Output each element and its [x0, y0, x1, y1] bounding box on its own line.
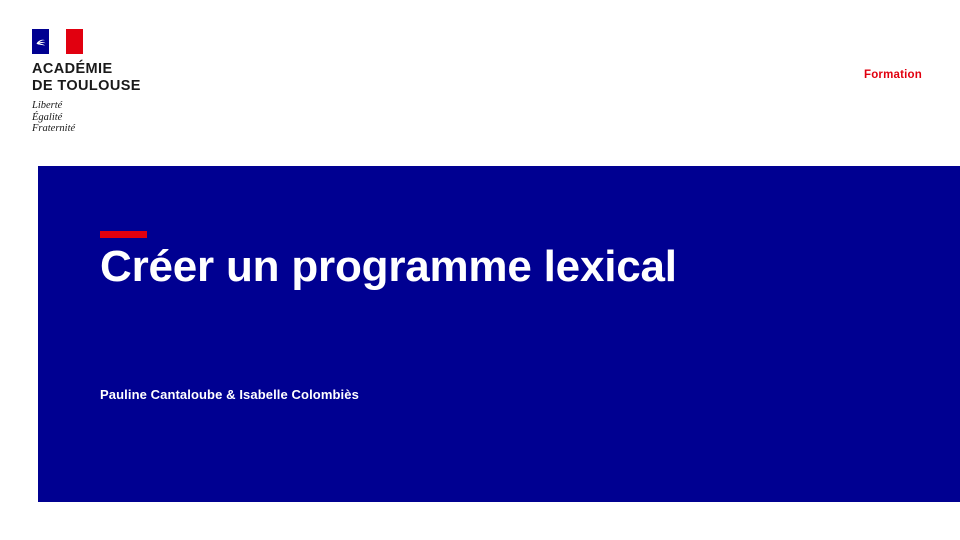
title-accent-bar — [100, 231, 147, 238]
slide-canvas: ACADÉMIE DE TOULOUSE Liberté Égalité Fra… — [0, 0, 960, 540]
hero-panel: Créer un programme lexical Pauline Canta… — [38, 166, 960, 502]
institution-name-line1: ACADÉMIE — [32, 61, 113, 77]
institution-name-line2: DE TOULOUSE — [32, 78, 222, 95]
page-title: Créer un programme lexical — [100, 241, 940, 293]
category-label: Formation — [864, 69, 922, 81]
motto-line-liberte: Liberté — [32, 100, 222, 112]
institution-name: ACADÉMIE DE TOULOUSE — [32, 61, 222, 94]
french-tricolor-flag-icon — [32, 29, 222, 54]
authors-line: Pauline Cantaloube & Isabelle Colombiès — [100, 386, 940, 404]
motto-line-egalite: Égalité — [32, 112, 222, 124]
motto-line-fraternite: Fraternité — [32, 123, 222, 135]
republic-motto: Liberté Égalité Fraternité — [32, 100, 222, 135]
academie-logo: ACADÉMIE DE TOULOUSE Liberté Égalité Fra… — [32, 29, 222, 135]
